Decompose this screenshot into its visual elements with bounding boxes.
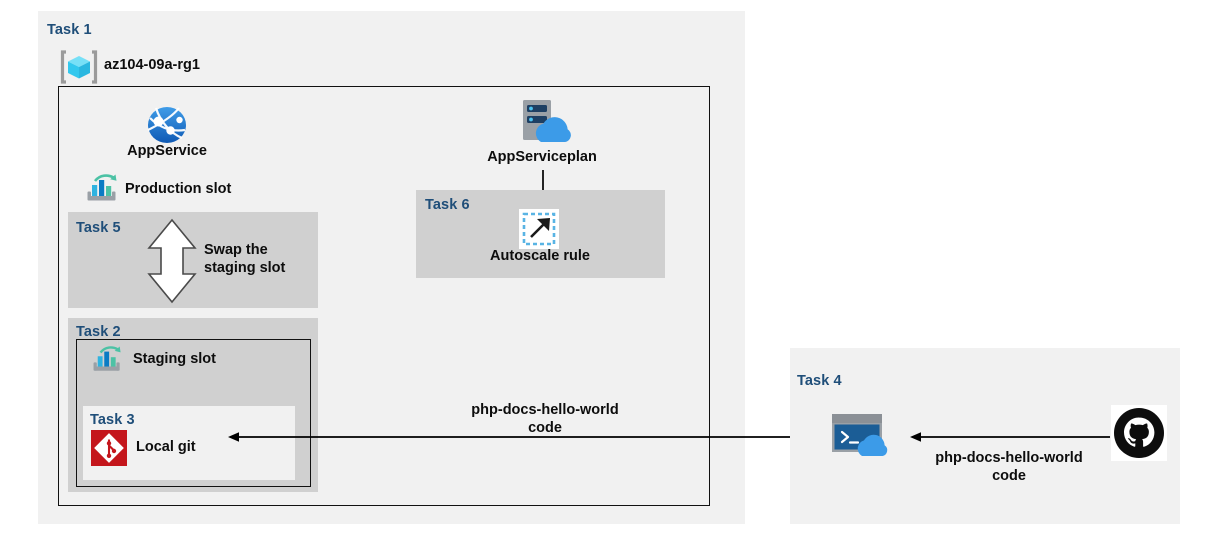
- task4-label: Task 4: [797, 373, 842, 389]
- staging-slot-label: Staging slot: [133, 351, 216, 368]
- autoscale-icon: [519, 209, 559, 249]
- swap-label-line1: Swap the: [204, 242, 268, 259]
- app-service-icon: [146, 105, 188, 145]
- cloud-shell-icon: [832, 414, 898, 458]
- app-service-plan-label: AppServiceplan: [462, 149, 622, 166]
- resource-group-label: az104-09a-rg1: [104, 57, 200, 74]
- shell-to-local-git-arrow: [228, 430, 824, 444]
- double-arrow-up-down-icon: [145, 218, 199, 304]
- task2-label: Task 2: [76, 324, 121, 340]
- github-to-shell-arrow: [910, 430, 1110, 444]
- task5-label: Task 5: [76, 220, 121, 236]
- deployment-slot-icon: [86, 174, 120, 204]
- github-to-shell-label-line1: php-docs-hello-world: [918, 450, 1100, 467]
- production-slot-label: Production slot: [125, 181, 231, 198]
- github-to-shell-label-line2: code: [918, 468, 1100, 485]
- app-service-label: AppService: [104, 143, 230, 160]
- local-git-label: Local git: [136, 439, 196, 456]
- task1-label: Task 1: [47, 22, 92, 38]
- git-icon: [91, 430, 127, 466]
- autoscale-rule-label: Autoscale rule: [458, 248, 622, 265]
- task3-label: Task 3: [90, 412, 135, 428]
- task6-label: Task 6: [425, 197, 470, 213]
- github-icon: [1111, 405, 1167, 461]
- diagram-canvas: Task 1 az104-09a-rg1: [0, 0, 1218, 545]
- swap-label-line2: staging slot: [204, 260, 285, 277]
- shell-to-git-label-line1: php-docs-hello-world: [455, 402, 635, 419]
- resource-group-icon: [60, 48, 98, 86]
- app-service-plan-icon: [511, 98, 573, 148]
- deployment-slot-icon: [92, 346, 124, 374]
